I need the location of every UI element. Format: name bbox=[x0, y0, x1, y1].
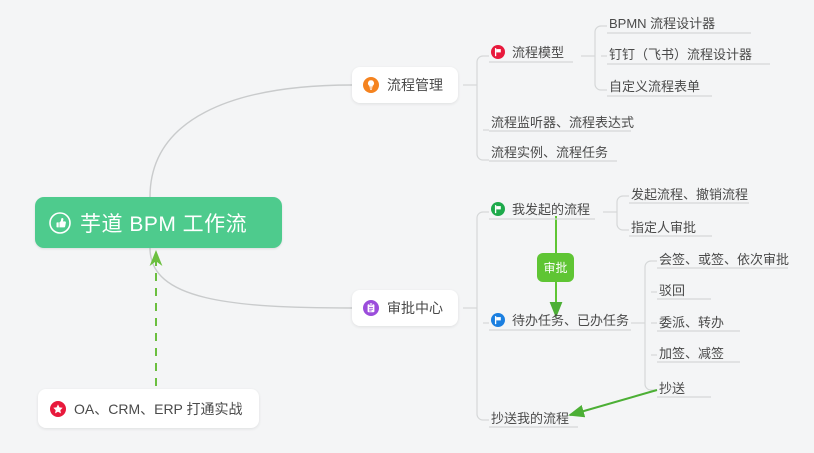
edge-process-management-bracket bbox=[477, 56, 483, 160]
root-node[interactable]: 芋道 BPM 工作流 bbox=[35, 197, 282, 248]
leaf-node-custom-form[interactable]: 自定义流程表单 bbox=[609, 76, 700, 98]
sub-label-todo-done-task: 待办任务、已办任务 bbox=[512, 310, 629, 329]
leaf-node-add-remove-sign[interactable]: 加签、减签 bbox=[659, 343, 724, 365]
sub-label-process-model: 流程模型 bbox=[512, 42, 564, 61]
edge-root-to-approval-center bbox=[150, 248, 352, 308]
flag-icon bbox=[491, 313, 505, 327]
annotation-arrow-cc-to-my-cc bbox=[570, 390, 657, 415]
branch-label-approval-center: 审批中心 bbox=[387, 298, 443, 318]
leaf-node-countersign[interactable]: 会签、或签、依次审批 bbox=[659, 249, 789, 271]
leaf-node-instance-task[interactable]: 流程实例、流程任务 bbox=[491, 142, 608, 164]
branch-label-process-management: 流程管理 bbox=[387, 75, 443, 95]
leaf-node-cc[interactable]: 抄送 bbox=[659, 378, 685, 400]
leaf-node-cc-to-me[interactable]: 抄送我的流程 bbox=[491, 408, 569, 430]
sub-node-process-model[interactable]: 流程模型 bbox=[491, 42, 564, 64]
edge-process-model-bracket bbox=[595, 26, 601, 90]
annotation-chip-label: 审批 bbox=[543, 259, 567, 276]
leaf-node-assignee-approval[interactable]: 指定人审批 bbox=[631, 217, 696, 239]
star-icon bbox=[50, 401, 66, 417]
sub-node-todo-done-task[interactable]: 待办任务、已办任务 bbox=[491, 310, 629, 332]
sub-label-my-started-process: 我发起的流程 bbox=[512, 199, 590, 218]
tag-node-integration[interactable]: OA、CRM、ERP 打通实战 bbox=[38, 389, 259, 428]
flag-icon bbox=[491, 45, 505, 59]
leaf-node-bpmn-designer[interactable]: BPMN 流程设计器 bbox=[609, 13, 715, 35]
tag-label-integration: OA、CRM、ERP 打通实战 bbox=[74, 399, 243, 419]
edge-approval-center-bracket bbox=[477, 212, 483, 420]
branch-node-process-management[interactable]: 流程管理 bbox=[352, 67, 458, 103]
thumbs-up-icon bbox=[49, 212, 71, 234]
clipboard-icon bbox=[363, 300, 379, 316]
lightbulb-icon bbox=[363, 77, 379, 93]
leaf-node-start-cancel-process[interactable]: 发起流程、撤销流程 bbox=[631, 184, 748, 206]
mindmap-canvas: 芋道 BPM 工作流 流程管理 审批中心 bbox=[0, 0, 814, 453]
leaf-node-delegate-transfer[interactable]: 委派、转办 bbox=[659, 312, 724, 334]
leaf-node-dingtalk-designer[interactable]: 钉钉（飞书）流程设计器 bbox=[609, 44, 752, 66]
branch-node-approval-center[interactable]: 审批中心 bbox=[352, 290, 458, 326]
edge-my-started-bracket bbox=[617, 196, 623, 230]
leaf-node-reject[interactable]: 驳回 bbox=[659, 280, 685, 302]
edge-root-to-process-management bbox=[150, 85, 352, 197]
edge-todo-bracket bbox=[645, 261, 651, 390]
sub-node-my-started-process[interactable]: 我发起的流程 bbox=[491, 199, 590, 221]
leaf-node-listener-expression[interactable]: 流程监听器、流程表达式 bbox=[491, 112, 634, 134]
flag-icon bbox=[491, 202, 505, 216]
annotation-chip-approval: 审批 bbox=[537, 253, 574, 282]
root-label: 芋道 BPM 工作流 bbox=[80, 208, 247, 238]
